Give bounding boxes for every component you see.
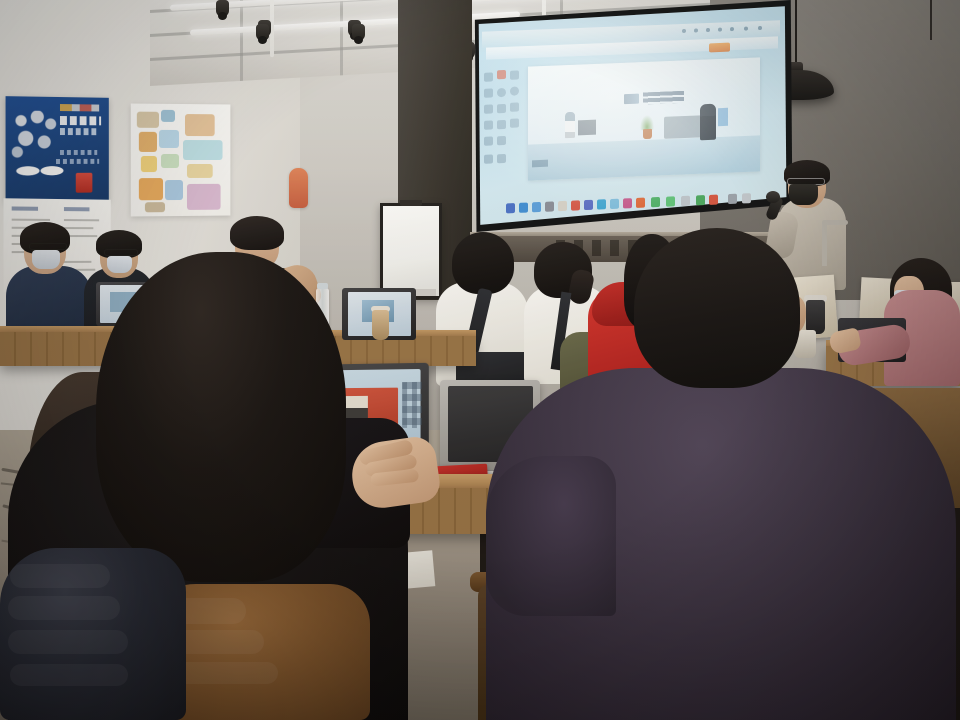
water-bottle-cap [317, 283, 328, 289]
pendant-lamp-cord [930, 0, 932, 40]
attendee-leaning-hair [230, 216, 284, 250]
attendee-navy-face-mask-icon [32, 250, 60, 269]
projected-caption [532, 160, 548, 168]
photo-scene [0, 0, 960, 720]
whiteboard-clip [400, 200, 422, 206]
wall-poster-collage [131, 104, 231, 217]
slide-figure-standing [565, 112, 575, 138]
wall-poster-blue [6, 96, 109, 203]
foreground-man-sleeve [486, 456, 616, 616]
coffee-cup [806, 300, 825, 334]
slide-wall-panel [718, 108, 728, 126]
navy-puffer-jacket [0, 548, 186, 720]
microphone-head-icon [766, 191, 780, 203]
whiteboard-flipchart [380, 203, 442, 299]
foreground-woman-hair [96, 252, 346, 582]
slide-potted-plant [639, 115, 655, 140]
faucet [822, 222, 827, 266]
attendee-dark-face-mask-icon [107, 256, 132, 273]
projected-slide-logo [624, 91, 684, 106]
track-spotlight-icon [256, 24, 269, 41]
attendee-white-1-hair [452, 232, 514, 294]
slide-desk [578, 120, 596, 136]
attendee-dark-glasses-icon [104, 249, 138, 256]
counter-slot [592, 240, 601, 256]
foreground-man-head [634, 228, 800, 388]
front-laptop-participant-grid [402, 382, 422, 428]
drink-cup [372, 310, 389, 340]
slide-figure-seated [700, 104, 716, 141]
attendee-navy-glasses-icon [29, 243, 67, 250]
projected-cta-button [709, 43, 730, 53]
track-spotlight-icon [352, 24, 365, 41]
wall-decoration-icon [289, 168, 308, 208]
projected-sidebar-icons [482, 69, 526, 181]
track-spotlight-icon [216, 0, 229, 17]
counter-slot [610, 240, 619, 256]
presenter-face-mask-icon [789, 184, 818, 205]
